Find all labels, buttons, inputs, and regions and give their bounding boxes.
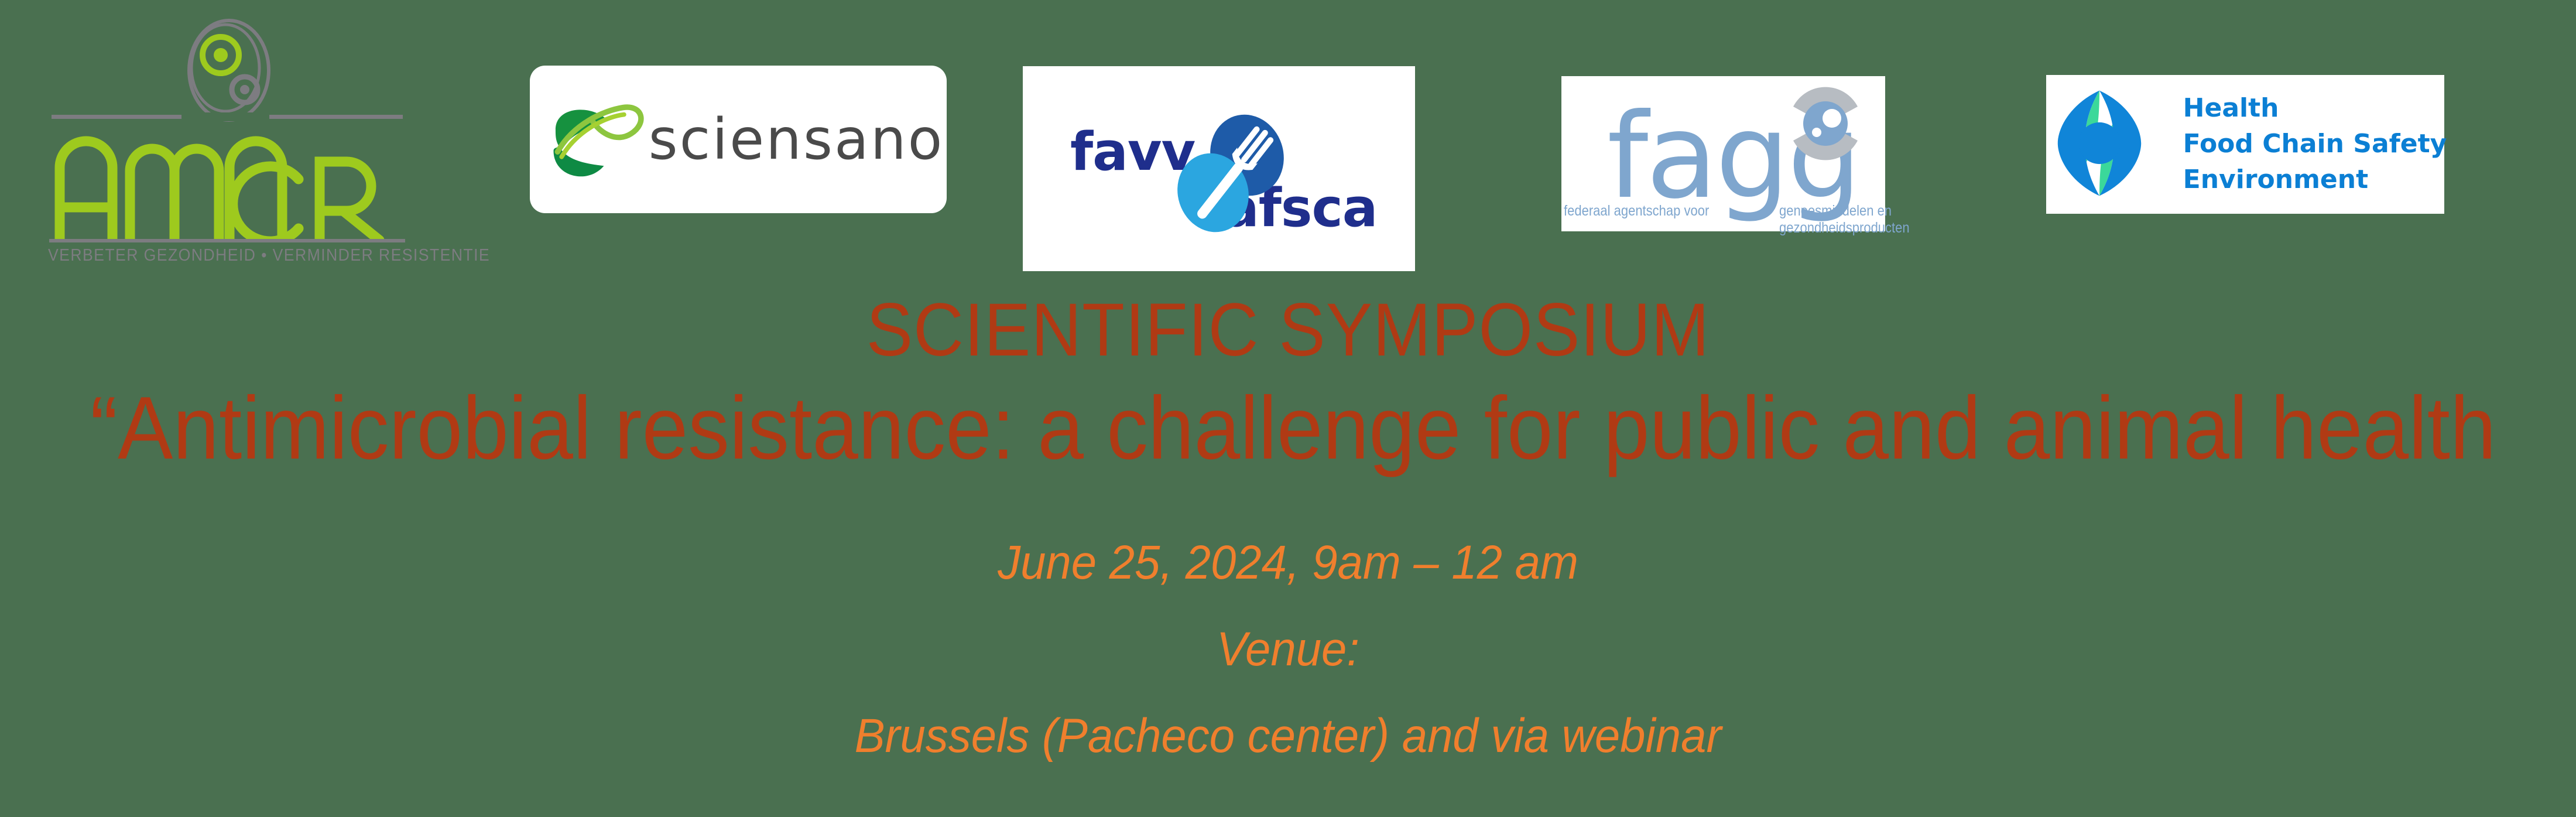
fagg-tagline-right: geneesmiddelen en gezondheidsproducten xyxy=(1779,203,1910,237)
fagg-tagline-left: federaal agentschap voor xyxy=(1564,203,1709,220)
health-eye-icon xyxy=(2047,83,2152,206)
fagg-tagline-right-line1: geneesmiddelen en xyxy=(1779,203,1892,219)
sciensano-leaf-icon xyxy=(544,90,645,189)
logo-fps-health: Health Food Chain Safety Environment xyxy=(2046,75,2444,214)
venue-location: Brussels (Pacheco center) and via webina… xyxy=(64,712,2512,760)
event-details-block: June 25, 2024, 9am – 12 am Venue: Brusse… xyxy=(0,539,2576,760)
sciensano-wordmark: sciensano xyxy=(649,111,944,167)
health-line-3: Environment xyxy=(2183,165,2368,194)
health-line-2: Food Chain Safety xyxy=(2183,129,2447,159)
page-subtitle: “Antimicrobial resistance: a challenge f… xyxy=(90,378,2486,478)
logo-favv-afsca: favv afsca xyxy=(1023,66,1415,271)
health-line-1: Health xyxy=(2183,93,2279,123)
amcra-tagline: VERBETER GEZONDHEID • VERMINDER RESISTEN… xyxy=(48,246,378,265)
health-wordmark: Health Food Chain Safety Environment xyxy=(2183,91,2447,197)
favv-fork-icon xyxy=(1164,105,1299,242)
amcra-rule-top xyxy=(52,115,403,119)
amcra-cell-icon xyxy=(179,16,279,128)
amcra-wordmark xyxy=(47,125,404,242)
amcra-rule-bottom xyxy=(49,239,405,242)
venue-label: Venue: xyxy=(64,625,2512,674)
logo-amcra: VERBETER GEZONDHEID • VERMINDER RESISTEN… xyxy=(35,16,422,251)
logo-fagg: fagg federaal agentschap voor geneesmidd… xyxy=(1561,76,1885,231)
fagg-circle-icon xyxy=(1782,80,1869,170)
event-date: June 25, 2024, 9am – 12 am xyxy=(64,539,2512,587)
partner-logo-strip: VERBETER GEZONDHEID • VERMINDER RESISTEN… xyxy=(0,0,2576,293)
fagg-tagline-right-line2: gezondheidsproducten xyxy=(1779,220,1910,236)
headline-block: SCIENTIFIC SYMPOSIUM “Antimicrobial resi… xyxy=(0,293,2576,478)
logo-sciensano: sciensano xyxy=(530,66,947,213)
page-title: SCIENTIFIC SYMPOSIUM xyxy=(90,293,2486,368)
